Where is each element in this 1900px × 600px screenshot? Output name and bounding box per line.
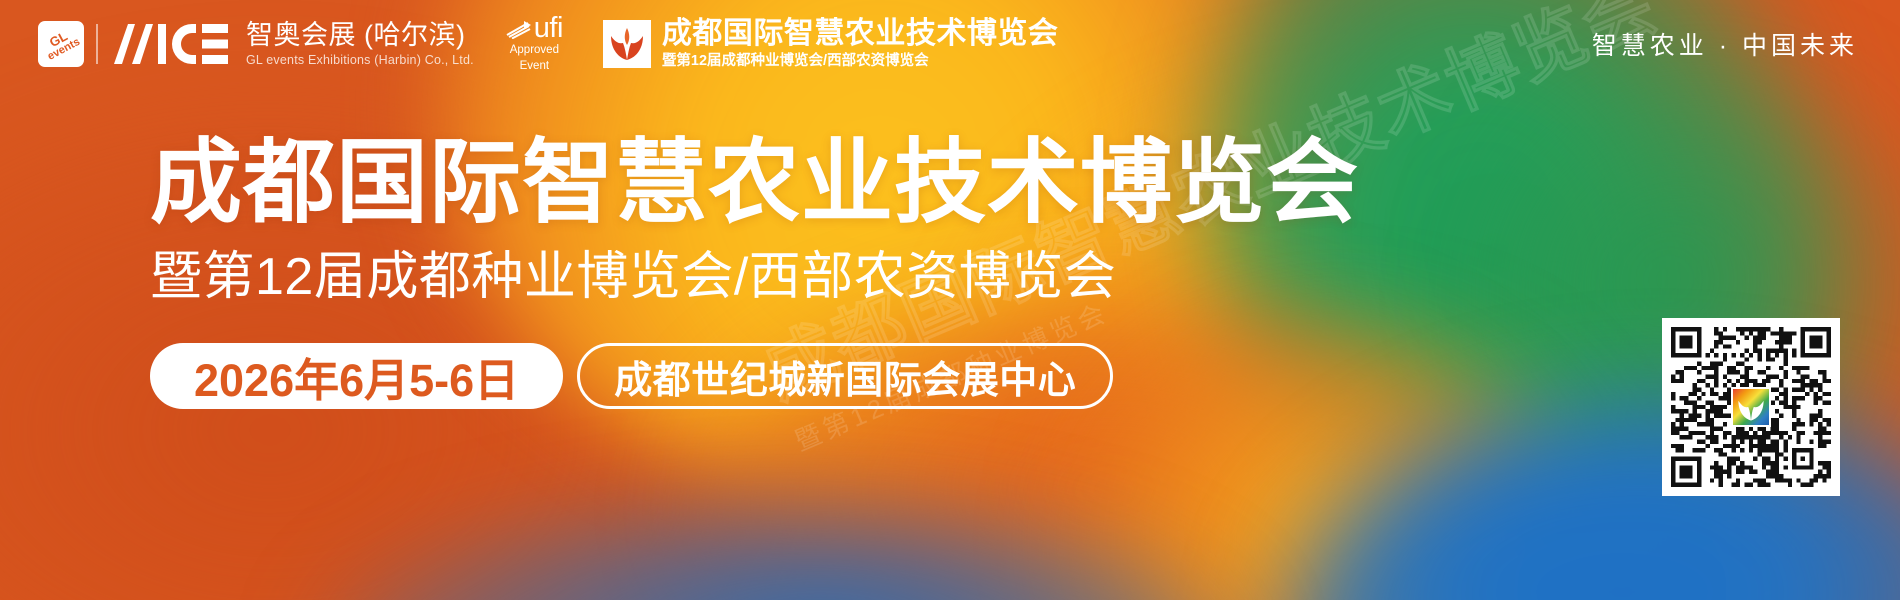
info-pill-row: 2026年6月5-6日 成都世纪城新国际会展中心 bbox=[150, 343, 1359, 409]
ufi-event-label: Event bbox=[520, 59, 549, 73]
qr-code[interactable] bbox=[1662, 318, 1840, 496]
page-subtitle: 暨第12届成都种业博览会/西部农资博览会 bbox=[150, 248, 1359, 308]
fair-leaf-logo-icon bbox=[603, 20, 651, 68]
qr-code-canvas bbox=[1671, 327, 1831, 487]
fair-name-block: 成都国际智慧农业技术博览会 暨第12届成都种业博览会/西部农资博览会 bbox=[662, 18, 1059, 71]
main-content: 成都国际智慧农业技术博览会 暨第12届成都种业博览会/西部农资博览会 2026年… bbox=[150, 135, 1359, 409]
ufi-wordmark: ufi bbox=[534, 15, 563, 43]
ufi-approved-event-logo: ufi Approved Event bbox=[506, 15, 563, 73]
page-title: 成都国际智慧农业技术博览会 bbox=[150, 135, 1359, 232]
ufi-swoosh-icon bbox=[506, 19, 532, 39]
exhibition-banner: 成都国际智慧农业技术博览会 暨第12届成都种业博览会 GL events bbox=[0, 0, 1900, 600]
ufi-approved-label: Approved bbox=[510, 43, 559, 57]
fair-subtitle-cn: 暨第12届成都种业博览会/西部农资博览会 bbox=[662, 53, 1059, 70]
top-bar: GL events bbox=[0, 0, 1900, 88]
organizer-name-cn: 智奥会展 (哈尔滨) bbox=[246, 20, 474, 51]
date-pill: 2026年6月5-6日 bbox=[150, 343, 563, 409]
aice-wordmark-icon bbox=[110, 24, 228, 64]
organizer-logo-group: GL events bbox=[38, 15, 563, 73]
gl-events-logo-icon: GL events bbox=[38, 21, 84, 67]
venue-pill: 成都世纪城新国际会展中心 bbox=[577, 343, 1113, 409]
fair-logo-group: 成都国际智慧农业技术博览会 暨第12届成都种业博览会/西部农资博览会 bbox=[603, 18, 1059, 71]
qr-center-logo-icon bbox=[1731, 387, 1771, 427]
fair-title-cn: 成都国际智慧农业技术博览会 bbox=[662, 18, 1059, 50]
organizer-name-block: 智奥会展 (哈尔滨) GL events Exhibitions (Harbin… bbox=[246, 20, 474, 68]
logo-divider bbox=[96, 24, 98, 64]
tagline: 智慧农业 · 中国未来 bbox=[1592, 26, 1858, 62]
organizer-name-en: GL events Exhibitions (Harbin) Co., Ltd. bbox=[246, 53, 474, 68]
